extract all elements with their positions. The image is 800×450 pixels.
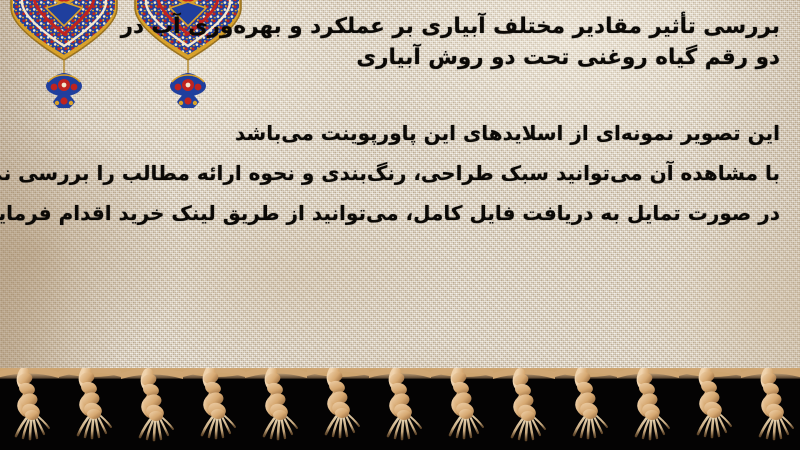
body-line-2: با مشاهده آن می‌توانید سبک طراحی، رنگ‌بن… bbox=[20, 153, 780, 193]
slide-canvas: بررسی تأثیر مقادیر مختلف آبیاری بر عملکر… bbox=[0, 0, 800, 450]
title-line-1: بررسی تأثیر مقادیر مختلف آبیاری بر عملکر… bbox=[20, 11, 780, 42]
body-line-1: این تصویر نمونه‌ای از اسلایدهای این پاور… bbox=[20, 113, 780, 153]
bottom-black-band bbox=[0, 368, 800, 450]
slide-title: بررسی تأثیر مقادیر مختلف آبیاری بر عملکر… bbox=[20, 11, 780, 73]
carpet-fringe bbox=[0, 368, 800, 450]
body-line-3: در صورت تمایل به دریافت فایل کامل، می‌تو… bbox=[20, 193, 780, 233]
slide-body: این تصویر نمونه‌ای از اسلایدهای این پاور… bbox=[20, 113, 780, 233]
title-line-2: دو رقم گیاه روغنی تحت دو روش آبیاری bbox=[20, 42, 780, 73]
